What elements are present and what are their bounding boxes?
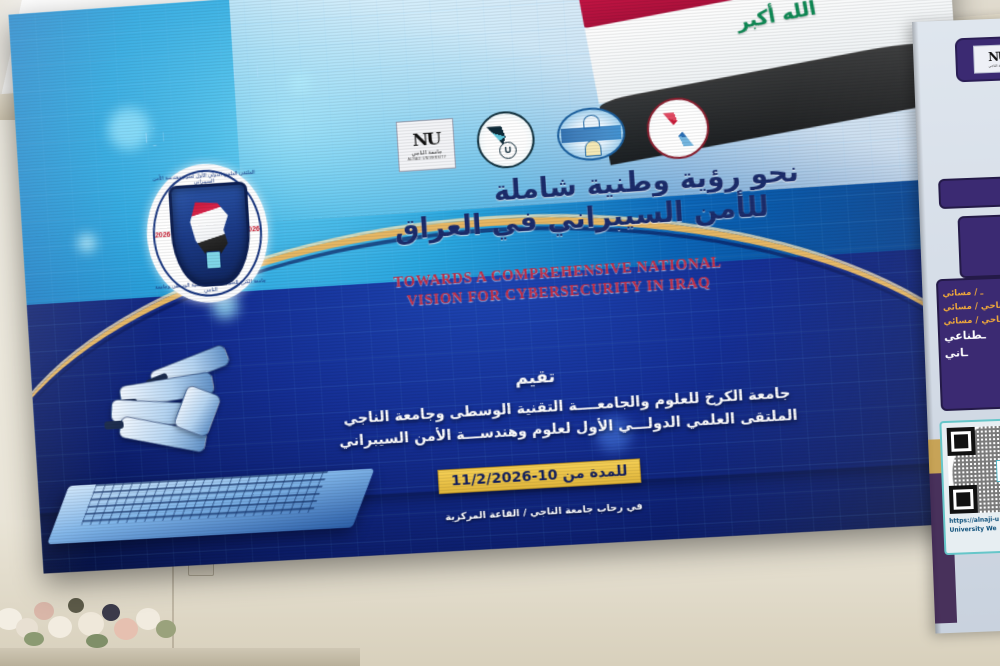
mtu-monogram: U [499,141,518,159]
screenshot-root: الله أكبر الملتقى العلمي الدولي الأول لع… [0,0,1000,666]
laptop-graphic [50,364,366,550]
floral-decoration [0,592,210,656]
poster-nu-subtitle: جامعة الناجي [988,63,1000,68]
led-display-screen: الله أكبر الملتقى العلمي الدولي الأول لع… [8,0,985,574]
fan-blue-icon [664,125,694,147]
poster-green-text-box: ـدلة [938,175,1000,209]
list-item: ـطناعي [944,325,1000,346]
poster-qr-block[interactable]: NU https://alnaji-u University We [939,417,1000,555]
qr-finder-icon [949,485,978,514]
poster-white-text-box: ــعي [957,212,1000,278]
qr-center-badge: NU [996,458,1000,482]
conference-emblem: الملتقى العلمي الدولي الأول لعلوم وهندسة… [143,160,273,306]
qr-url-caption: https://alnaji-u University We [949,513,1000,535]
poster-nu-wordmark: NU [988,49,1000,64]
poster-nu-logo: NU جامعة الناجي [955,35,1000,82]
qr-finder-icon [947,427,976,456]
robot-hand-graphic [97,352,276,487]
karkh-university-logo [555,99,627,169]
alnaji-university-logo: NU جامعة الناجي ALNAJI UNIVERSITY [396,111,457,180]
qr-code[interactable]: NU [947,424,1000,514]
lock-icon [205,251,221,270]
nu-wordmark: NU [412,129,440,151]
emblem-year-left: 2026 [155,232,171,240]
ministry-research-logo [645,94,711,164]
poster-program-list: ـ / مسائي ـباحي / مسائي ـاحي / مسائي ـطن… [936,274,1000,411]
karkh-arch-icon [584,140,602,157]
middle-technical-university-logo: U [475,105,537,174]
